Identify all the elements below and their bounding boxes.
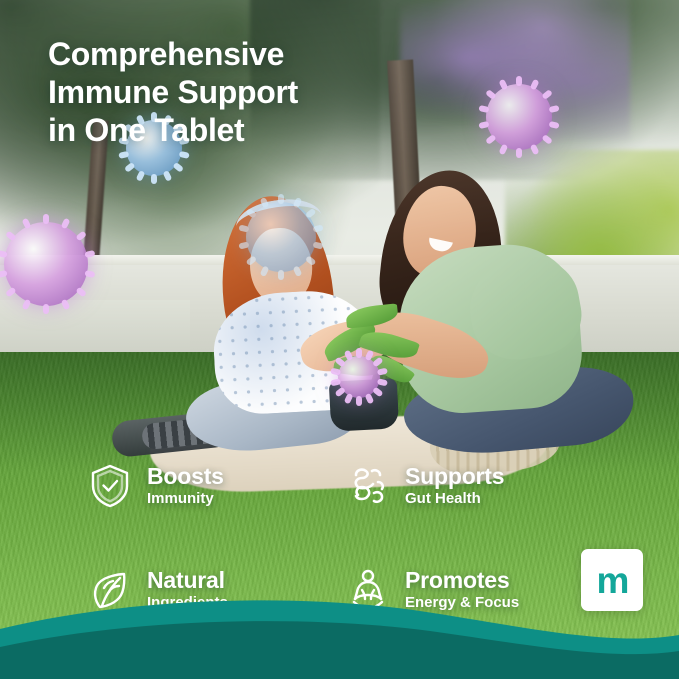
virus-spike [516, 148, 522, 158]
headline-line-3: in One Tablet [48, 112, 528, 150]
virus-spike [278, 270, 284, 280]
bottom-wave [0, 589, 679, 679]
headline-line-2: Immune Support [48, 74, 528, 112]
benefit-subtitle: Gut Health [405, 490, 504, 507]
virus-spike [43, 304, 49, 314]
intestine-gut-icon [344, 462, 392, 510]
virus-particle-blue [246, 202, 316, 272]
benefit-text: Supports Gut Health [405, 465, 504, 508]
shield-check-icon [86, 462, 134, 510]
virus-spike [356, 396, 362, 406]
headline-line-1: Comprehensive [48, 36, 528, 74]
virus-spike [356, 348, 362, 358]
virus-particle-purple [4, 222, 88, 306]
virus-spike [278, 194, 284, 204]
benefit-boosts-immunity: Boosts Immunity [86, 462, 298, 510]
headline: Comprehensive Immune Support in One Tabl… [48, 36, 528, 149]
concrete-wall-edge [0, 255, 679, 265]
virus-body [4, 222, 88, 306]
benefit-text: Boosts Immunity [147, 465, 224, 508]
virus-particle-purple [338, 356, 380, 398]
ad-creative: Comprehensive Immune Support in One Tabl… [0, 0, 679, 679]
benefit-title: Boosts [147, 465, 224, 488]
plant-leaf [345, 303, 399, 328]
benefit-supports-gut-health: Supports Gut Health [344, 462, 594, 510]
virus-spike [151, 174, 157, 184]
virus-spike [43, 214, 49, 224]
benefit-subtitle: Immunity [147, 490, 224, 507]
benefit-title: Supports [405, 465, 504, 488]
